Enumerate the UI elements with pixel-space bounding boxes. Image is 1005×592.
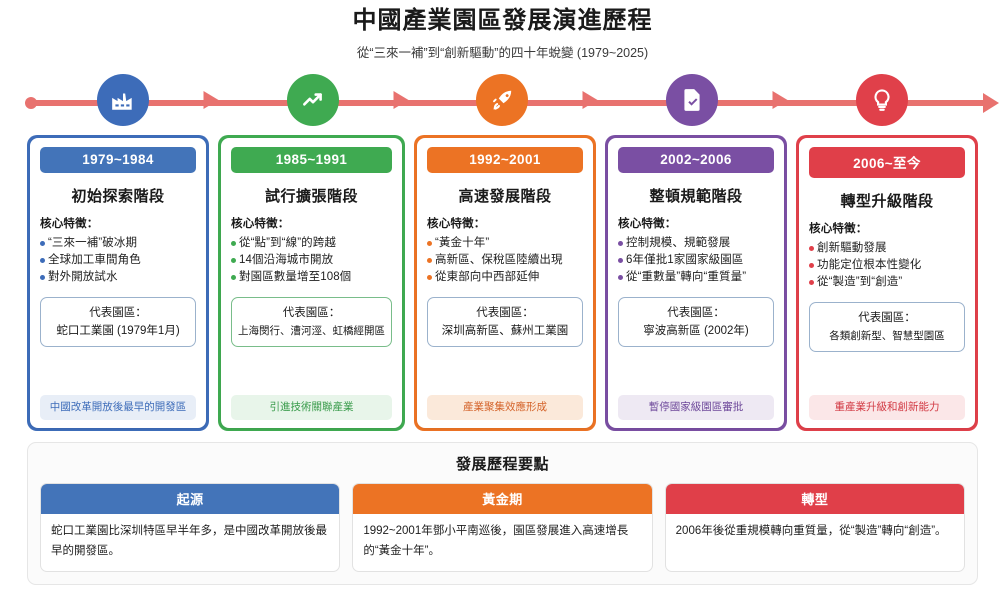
summary-card-3[interactable]: 轉型2006年後從重規模轉向重質量，從“製造”轉向“創造”。 <box>665 483 965 572</box>
representative-park-label: 代表園區： <box>625 304 767 322</box>
header: 中國產業園區發展演進歷程 從“三來一補”到“創新驅動”的四十年蛻變 (1979~… <box>0 0 1005 61</box>
factory-icon <box>110 87 136 113</box>
stage-card-inner: 2002~2006整頓規範階段核心特徵：控制規模、規範發展6年僅批1家國家級園區… <box>608 138 784 428</box>
stage-feature-item: 14個沿海城市開放 <box>231 252 392 269</box>
summary-card-header: 轉型 <box>666 484 964 514</box>
stage-feature-text: 從東部向中西部延伸 <box>435 269 539 286</box>
summary-card-header: 起源 <box>41 484 339 514</box>
stage-features-label: 核心特徵： <box>231 215 290 231</box>
timeline-arrow-4 <box>773 91 788 109</box>
stage-feature-text: 創新驅動發展 <box>817 240 887 257</box>
stage-title: 高速發展階段 <box>458 185 551 206</box>
bullet-icon <box>618 241 623 246</box>
stage-title: 初始探索階段 <box>71 185 164 206</box>
stage-cards: 1979~1984初始探索階段核心特徵：“三來一補”破冰期全球加工車間角色對外開… <box>0 135 1005 431</box>
stage-period-badge: 1985~1991 <box>231 147 392 173</box>
rocket-icon <box>489 87 515 113</box>
stage-feature-text: 6年僅批1家國家級園區 <box>626 252 743 269</box>
stage-card-3[interactable]: 1992~2001高速發展階段核心特徵：“黃金十年”高新區、保稅區陸續出現從東部… <box>414 135 596 431</box>
bullet-icon <box>809 263 814 268</box>
stage-feature-item: 從“製造”到“創造” <box>809 274 965 291</box>
stage-feature-text: “三來一補”破冰期 <box>48 235 137 252</box>
stage-features-list: 創新驅動發展功能定位根本性變化從“製造”到“創造” <box>809 240 965 291</box>
representative-park-box: 代表園區：上海閔行、漕河涇、虹橋經開區 <box>231 297 392 347</box>
stage-features-list: 控制規模、規範發展6年僅批1家國家級園區從“重數量”轉向“重質量” <box>618 235 774 286</box>
stage-note-badge: 引進技術關聯產業 <box>231 395 392 420</box>
representative-park-box: 代表園區：蛇口工業園 (1979年1月) <box>40 297 196 347</box>
bullet-icon <box>40 258 45 263</box>
stage-period-badge: 2006~至今 <box>809 147 965 178</box>
stage-card-inner: 1979~1984初始探索階段核心特徵：“三來一補”破冰期全球加工車間角色對外開… <box>30 138 206 428</box>
stage-feature-item: 高新區、保稅區陸續出現 <box>427 252 583 269</box>
stage-feature-item: 對園區數量增至108個 <box>231 269 392 286</box>
page-subtitle: 從“三來一補”到“創新驅動”的四十年蛻變 (1979~2025) <box>0 45 1005 61</box>
stage-card-2[interactable]: 1985~1991試行擴張階段核心特徵：從“點”到“線”的跨越14個沿海城市開放… <box>218 135 405 431</box>
stage-feature-item: “三來一補”破冰期 <box>40 235 196 252</box>
summary-card-2[interactable]: 黃金期1992~2001年鄧小平南巡後，園區發展進入高速增長的“黃金十年”。 <box>352 483 652 572</box>
stage-feature-item: “黃金十年” <box>427 235 583 252</box>
stage-card-4[interactable]: 2002~2006整頓規範階段核心特徵：控制規模、規範發展6年僅批1家國家級園區… <box>605 135 787 431</box>
stage-features-list: “三來一補”破冰期全球加工車間角色對外開放試水 <box>40 235 196 286</box>
bullet-icon <box>427 241 432 246</box>
stage-feature-item: 6年僅批1家國家級園區 <box>618 252 774 269</box>
representative-park-label: 代表園區： <box>238 304 385 322</box>
stage-feature-item: 從“重數量”轉向“重質量” <box>618 269 774 286</box>
summary-panel: 發展歷程要點 起源蛇口工業園比深圳特區早半年多，是中國改革開放後最早的開發區。黃… <box>27 442 978 585</box>
timeline-nodes <box>0 69 1005 131</box>
document-check-icon <box>679 87 705 113</box>
timeline-node-2[interactable] <box>287 74 339 126</box>
stage-period-badge: 2002~2006 <box>618 147 774 173</box>
timeline-arrow-3 <box>583 91 598 109</box>
stage-feature-item: 全球加工車間角色 <box>40 252 196 269</box>
representative-park-label: 代表園區： <box>816 309 958 327</box>
stage-period-badge: 1992~2001 <box>427 147 583 173</box>
stage-features-label: 核心特徵： <box>427 215 486 231</box>
stage-feature-text: 對外開放試水 <box>48 269 118 286</box>
stage-card-inner: 2006~至今轉型升級階段核心特徵：創新驅動發展功能定位根本性變化從“製造”到“… <box>799 138 975 428</box>
stage-feature-text: 從“製造”到“創造” <box>817 274 902 291</box>
representative-park-value: 上海閔行、漕河涇、虹橋經開區 <box>238 322 385 340</box>
timeline-arrow-1 <box>203 91 218 109</box>
timeline-node-1[interactable] <box>97 74 149 126</box>
summary-card-body: 蛇口工業園比深圳特區早半年多，是中國改革開放後最早的開發區。 <box>41 514 339 571</box>
representative-park-value: 蛇口工業園 (1979年1月) <box>47 322 189 340</box>
stage-feature-text: “黃金十年” <box>435 235 489 252</box>
stage-feature-item: 控制規模、規範發展 <box>618 235 774 252</box>
stage-feature-item: 對外開放試水 <box>40 269 196 286</box>
stage-title: 整頓規範階段 <box>649 185 742 206</box>
bullet-icon <box>231 275 236 280</box>
bullet-icon <box>40 241 45 246</box>
stage-card-5[interactable]: 2006~至今轉型升級階段核心特徵：創新驅動發展功能定位根本性變化從“製造”到“… <box>796 135 978 431</box>
bullet-icon <box>40 275 45 280</box>
bullet-icon <box>618 258 623 263</box>
representative-park-value: 深圳高新區、蘇州工業園 <box>434 322 576 340</box>
summary-card-header: 黃金期 <box>353 484 651 514</box>
stage-feature-item: 從“點”到“線”的跨越 <box>231 235 392 252</box>
stage-title: 試行擴張階段 <box>265 185 358 206</box>
lightbulb-icon <box>869 87 895 113</box>
stage-card-inner: 1985~1991試行擴張階段核心特徵：從“點”到“線”的跨越14個沿海城市開放… <box>221 138 402 428</box>
stage-feature-text: 從“重數量”轉向“重質量” <box>626 269 746 286</box>
timeline-node-5[interactable] <box>856 74 908 126</box>
stage-note-badge: 暫停國家級園區審批 <box>618 395 774 420</box>
timeline-arrow-2 <box>393 91 408 109</box>
stage-feature-text: 全球加工車間角色 <box>48 252 141 269</box>
stage-feature-text: 14個沿海城市開放 <box>239 252 333 269</box>
timeline-node-3[interactable] <box>476 74 528 126</box>
summary-card-body: 1992~2001年鄧小平南巡後，園區發展進入高速增長的“黃金十年”。 <box>353 514 651 571</box>
stage-feature-text: 功能定位根本性變化 <box>817 257 921 274</box>
representative-park-label: 代表園區： <box>47 304 189 322</box>
summary-title: 發展歷程要點 <box>40 453 965 474</box>
representative-park-value: 寧波高新區 (2002年) <box>625 322 767 340</box>
timeline-slot-2 <box>218 74 408 126</box>
bullet-icon <box>231 258 236 263</box>
timeline-slot-4 <box>597 74 787 126</box>
summary-card-1[interactable]: 起源蛇口工業園比深圳特區早半年多，是中國改革開放後最早的開發區。 <box>40 483 340 572</box>
bullet-icon <box>809 280 814 285</box>
stage-features-list: “黃金十年”高新區、保稅區陸續出現從東部向中西部延伸 <box>427 235 583 286</box>
stage-feature-text: 從“點”到“線”的跨越 <box>239 235 336 252</box>
representative-park-value: 各類創新型、智慧型園區 <box>816 327 958 345</box>
bullet-icon <box>427 258 432 263</box>
timeline-node-4[interactable] <box>666 74 718 126</box>
stage-card-inner: 1992~2001高速發展階段核心特徵：“黃金十年”高新區、保稅區陸續出現從東部… <box>417 138 593 428</box>
stage-note-badge: 重產業升級和創新能力 <box>809 395 965 420</box>
summary-cards: 起源蛇口工業園比深圳特區早半年多，是中國改革開放後最早的開發區。黃金期1992~… <box>40 483 965 572</box>
representative-park-box: 代表園區：深圳高新區、蘇州工業園 <box>427 297 583 347</box>
timeline-slot-3 <box>408 74 598 126</box>
stage-features-label: 核心特徵： <box>809 220 868 236</box>
stage-feature-item: 創新驅動發展 <box>809 240 965 257</box>
timeline-slot-5 <box>787 74 977 126</box>
trending-up-icon <box>300 87 326 113</box>
bullet-icon <box>809 246 814 251</box>
infographic-page: 中國產業園區發展演進歷程 從“三來一補”到“創新驅動”的四十年蛻變 (1979~… <box>0 0 1005 592</box>
stage-features-list: 從“點”到“線”的跨越14個沿海城市開放對園區數量增至108個 <box>231 235 392 286</box>
representative-park-box: 代表園區：各類創新型、智慧型園區 <box>809 302 965 352</box>
stage-feature-item: 功能定位根本性變化 <box>809 257 965 274</box>
bullet-icon <box>618 275 623 280</box>
stage-feature-item: 從東部向中西部延伸 <box>427 269 583 286</box>
stage-note-badge: 產業聚集效應形成 <box>427 395 583 420</box>
bullet-icon <box>231 241 236 246</box>
stage-feature-text: 對園區數量增至108個 <box>239 269 351 286</box>
bullet-icon <box>427 275 432 280</box>
stage-card-1[interactable]: 1979~1984初始探索階段核心特徵：“三來一補”破冰期全球加工車間角色對外開… <box>27 135 209 431</box>
stage-period-badge: 1979~1984 <box>40 147 196 173</box>
summary-card-body: 2006年後從重規模轉向重質量，從“製造”轉向“創造”。 <box>666 514 964 551</box>
stage-feature-text: 控制規模、規範發展 <box>626 235 730 252</box>
stage-note-badge: 中國改革開放後最早的開發區 <box>40 395 196 420</box>
representative-park-box: 代表園區：寧波高新區 (2002年) <box>618 297 774 347</box>
stage-features-label: 核心特徵： <box>618 215 677 231</box>
stage-feature-text: 高新區、保稅區陸續出現 <box>435 252 563 269</box>
page-title: 中國產業園區發展演進歷程 <box>0 6 1005 36</box>
stage-title: 轉型升級階段 <box>840 190 933 211</box>
stage-features-label: 核心特徵： <box>40 215 99 231</box>
representative-park-label: 代表園區： <box>434 304 576 322</box>
timeline-slot-1 <box>28 74 218 126</box>
timeline <box>0 69 1005 131</box>
